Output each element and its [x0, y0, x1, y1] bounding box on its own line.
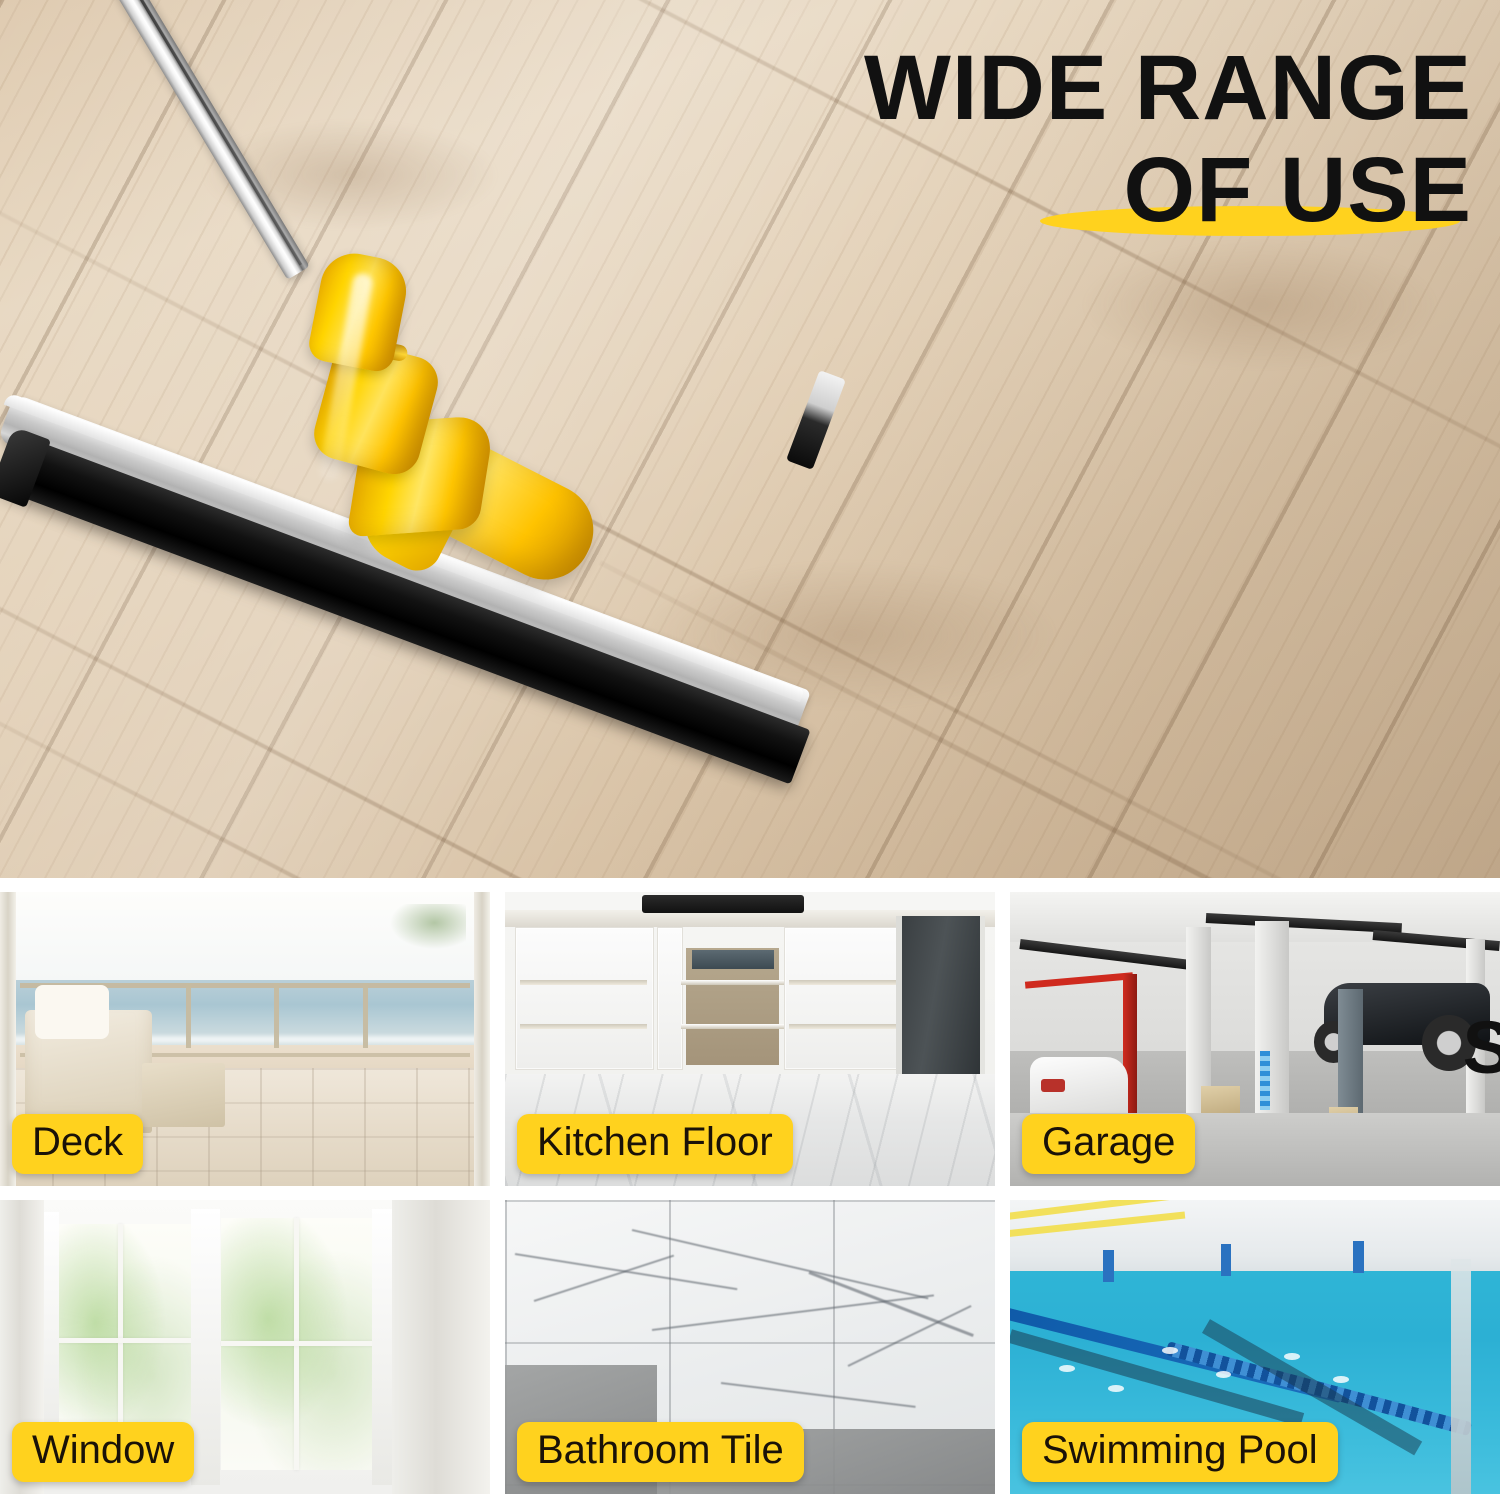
kitchen-shelf [681, 980, 784, 985]
tile-label-window: Window [12, 1422, 194, 1482]
cabinet-handle-line [789, 1024, 897, 1029]
pool-float-marker [1216, 1371, 1232, 1378]
use-case-tile-window[interactable]: Window [0, 1200, 490, 1494]
clipped-letter-s: S [1463, 1005, 1500, 1090]
tile-label-kitchen-floor: Kitchen Floor [517, 1114, 793, 1174]
window-center-frame [191, 1209, 220, 1485]
starting-block [1103, 1250, 1114, 1282]
headline: WIDE RANGE OF USE [864, 42, 1472, 238]
hero-image: WIDE RANGE OF USE [0, 0, 1500, 878]
window-frame-edge [372, 1209, 392, 1485]
use-case-tile-garage[interactable]: S Garage [1010, 892, 1500, 1186]
cabinet-handle-line [789, 980, 897, 985]
pool-float-marker [1059, 1365, 1075, 1372]
gas-hob [642, 895, 804, 913]
tile-label-bathroom-tile: Bathroom Tile [517, 1422, 804, 1482]
deck-railing-post [186, 983, 191, 1048]
kitchen-niche [686, 948, 779, 1066]
palm-frond [387, 904, 465, 951]
use-case-tile-deck[interactable]: Deck [0, 892, 490, 1186]
starting-block [1221, 1244, 1232, 1276]
channel-end-cap [786, 370, 846, 470]
headline-line-2: OF USE [864, 144, 1472, 238]
tile-label-swimming-pool: Swimming Pool [1022, 1422, 1338, 1482]
kitchen-shelf [681, 1024, 784, 1029]
pool-ladder-rail [1451, 1259, 1471, 1494]
tile-label-garage: Garage [1022, 1114, 1195, 1174]
curtain-right [392, 1200, 490, 1494]
kitchen-fridge [896, 916, 985, 1098]
window-mullion [54, 1338, 191, 1343]
cabinet-handle-line [520, 980, 647, 985]
window-mullion [221, 1341, 378, 1346]
kitchen-cabinet [657, 927, 684, 1070]
pool-float-marker [1284, 1353, 1300, 1360]
squeegee-pole [97, 0, 310, 280]
use-case-grid: Deck Kitchen Floor [0, 892, 1500, 1500]
headline-line-1: WIDE RANGE [864, 42, 1472, 136]
kitchen-cabinet [784, 927, 904, 1070]
kitchen-cabinet [515, 927, 654, 1070]
product-infographic: WIDE RANGE OF USE Deck [0, 0, 1500, 1500]
starting-block [1353, 1241, 1364, 1273]
deck-railing-post [363, 983, 368, 1048]
use-case-tile-kitchen-floor[interactable]: Kitchen Floor [505, 892, 995, 1186]
pool-float-marker [1162, 1347, 1178, 1354]
deck-door-jamb-right [474, 892, 490, 1186]
deck-railing-post [274, 983, 279, 1048]
pool-deck [1010, 1200, 1500, 1279]
use-case-tile-swimming-pool[interactable]: Swimming Pool [1010, 1200, 1500, 1494]
blue-coiled-hose [1260, 1051, 1270, 1110]
tile-label-deck: Deck [12, 1114, 143, 1174]
use-case-tile-bathroom-tile[interactable]: Bathroom Tile [505, 1200, 995, 1494]
headline-line-2-text: OF USE [1124, 139, 1472, 241]
deck-side-table [142, 1063, 225, 1128]
cabinet-handle-line [520, 1024, 647, 1029]
